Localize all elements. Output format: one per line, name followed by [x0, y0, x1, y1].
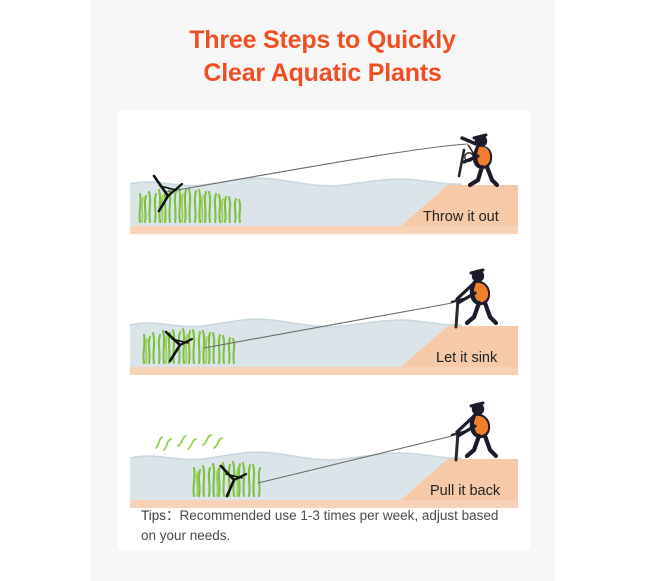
person-pulling-icon [452, 403, 496, 460]
step-panel-2: Let it sink [118, 255, 530, 380]
tips-note: Tips：Recommended use 1-3 times per week,… [141, 506, 513, 547]
step-2-label: Let it sink [436, 350, 497, 366]
infographic-root: Three Steps to Quickly Clear Aquatic Pla… [0, 0, 650, 581]
page-title: Three Steps to Quickly Clear Aquatic Pla… [90, 24, 555, 91]
floating-weed-fragments-icon [156, 435, 222, 450]
tips-text: Recommended use 1-3 times per week, adju… [141, 508, 498, 543]
step-panel-3: Pull it back [118, 388, 530, 513]
step-panel-1: Throw it out [118, 114, 530, 239]
page-title-line-2: Clear Aquatic Plants [90, 57, 555, 90]
tips-label: Tips： [141, 508, 180, 523]
person-holding-icon [452, 270, 496, 327]
step-3-label: Pull it back [430, 483, 500, 499]
steps-card: Throw it out [118, 110, 530, 550]
page-title-line-1: Three Steps to Quickly [90, 24, 555, 57]
person-throwing-icon [459, 135, 497, 185]
step-1-label: Throw it out [423, 209, 499, 225]
